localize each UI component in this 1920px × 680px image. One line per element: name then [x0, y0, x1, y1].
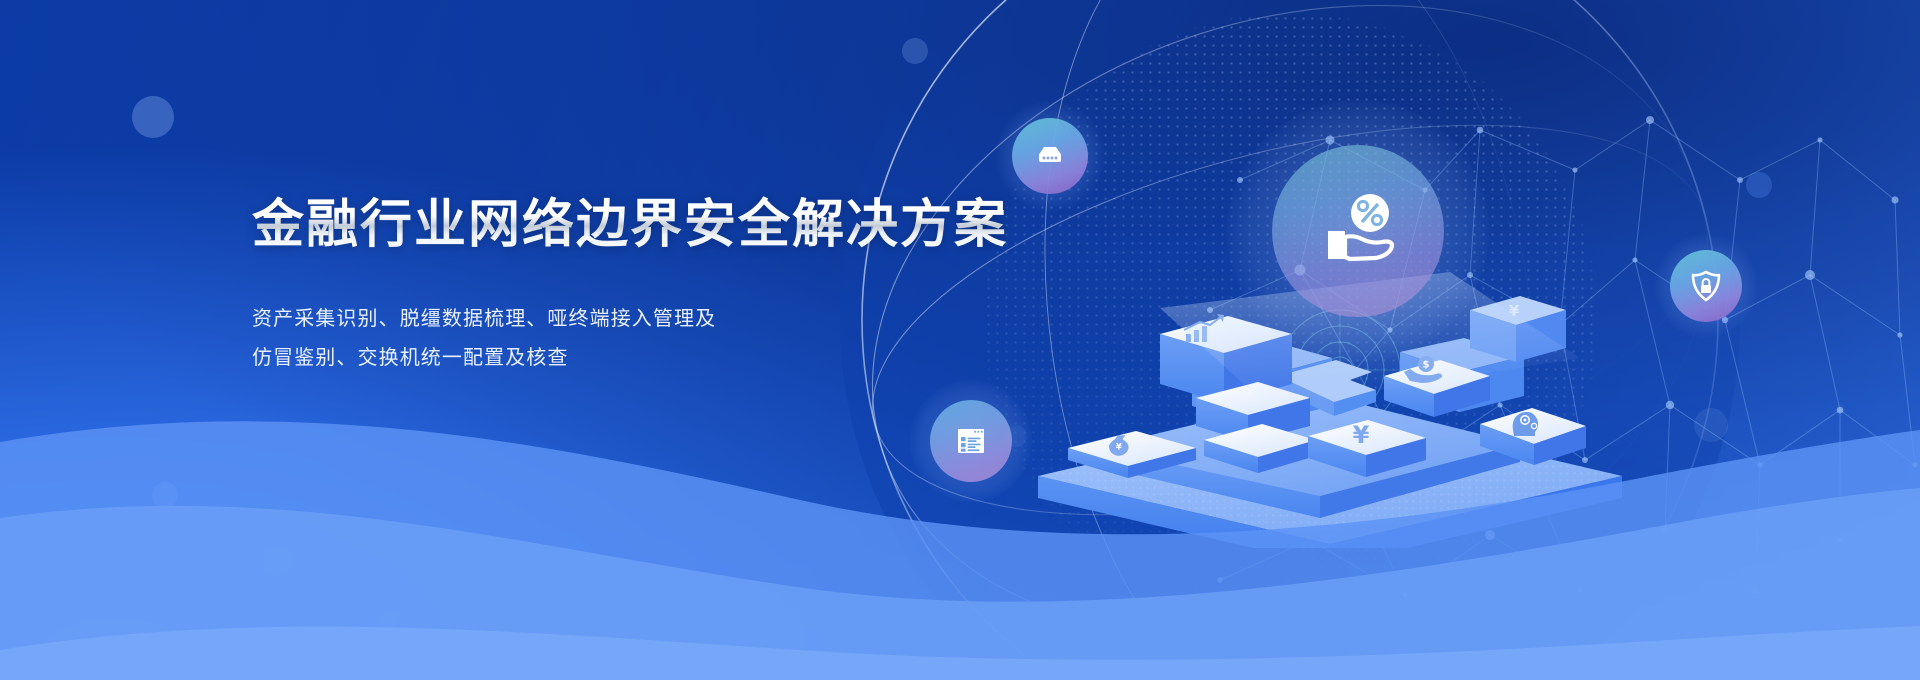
document-badge[interactable] — [930, 400, 1012, 482]
subtitle-line-2: 仿冒鉴别、交换机统一配置及核查 — [252, 339, 1072, 378]
blank-tile-lower — [1204, 424, 1316, 473]
page-title: 金融行业网络边界安全解决方案 — [252, 196, 1072, 254]
ai-head-gear-icon — [1513, 412, 1538, 436]
svg-text:¥: ¥ — [1116, 443, 1122, 453]
bokeh-circle — [902, 38, 928, 64]
bokeh-circle — [380, 610, 398, 628]
yen-block-icon: ¥ — [1509, 302, 1520, 320]
bokeh-circle — [1694, 408, 1728, 442]
yen-tile: ¥ — [1308, 420, 1426, 477]
blank-tile-upper — [1196, 382, 1310, 442]
yen-block-tile: ¥ — [1470, 296, 1566, 362]
document-list-icon — [950, 420, 992, 462]
finance-badge[interactable] — [1272, 145, 1444, 317]
wave-front — [0, 626, 1920, 680]
shield-lock-icon — [1687, 267, 1725, 305]
bokeh-circle — [132, 96, 174, 138]
hand-dollar-tile: $ — [1384, 356, 1490, 417]
wave-mid — [0, 488, 1920, 680]
subtitle-line-1: 资产采集识别、脱缰数据梳理、哑终端接入管理及 — [252, 300, 1072, 339]
hero-banner: ¥ — [0, 0, 1920, 680]
switch-badge[interactable] — [1012, 118, 1088, 194]
money-bag-yen-icon: ¥ — [1109, 435, 1128, 455]
hand-percent-icon — [1306, 179, 1410, 283]
shield-badge[interactable] — [1670, 250, 1742, 322]
hand-dollar-icon: $ — [1404, 356, 1442, 383]
bar-chart-arrow-icon — [1184, 314, 1224, 342]
money-bag-tile: ¥ — [1068, 431, 1196, 478]
bokeh-circle — [263, 546, 293, 576]
banner-copy: 金融行业网络边界安全解决方案 资产采集识别、脱缰数据梳理、哑终端接入管理及 仿冒… — [252, 196, 1072, 378]
svg-text:$: $ — [1423, 360, 1430, 371]
bokeh-circle — [1746, 172, 1772, 198]
bokeh-circle — [152, 482, 178, 508]
network-switch-icon — [1030, 136, 1070, 176]
banner-subtitle: 资产采集识别、脱缰数据梳理、哑终端接入管理及 仿冒鉴别、交换机统一配置及核查 — [252, 300, 1072, 378]
yen-symbol-icon: ¥ — [1353, 421, 1370, 449]
ai-head-tile — [1480, 408, 1586, 465]
